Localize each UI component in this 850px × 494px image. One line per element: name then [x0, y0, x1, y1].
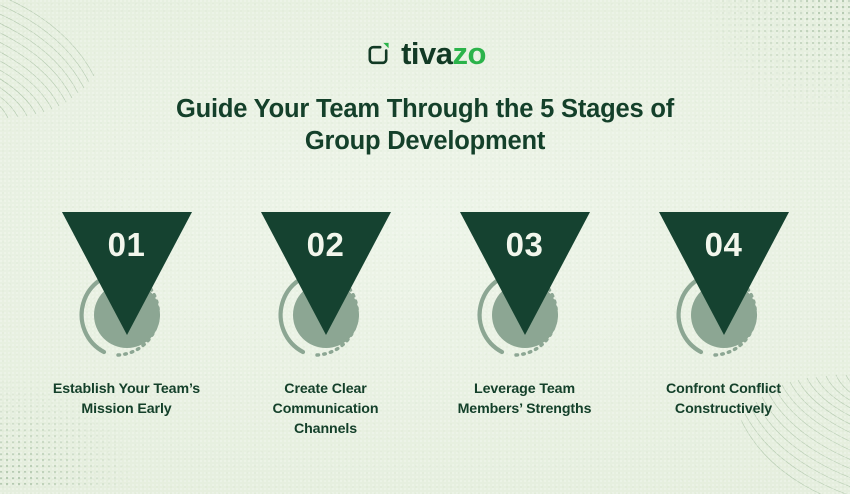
- stage-label: Establish Your Team’s Mission Early: [44, 379, 210, 419]
- stage-graphic: 03: [442, 205, 608, 365]
- tivazo-bracket-icon: [364, 39, 392, 67]
- stage-label: Confront Conflict Constructively: [641, 379, 807, 419]
- stage-card[interactable]: 03 Leverage Team Members’ Strengths: [442, 205, 608, 439]
- stage-graphic: 02: [243, 205, 409, 365]
- stage-label: Create Clear Communication Channels: [243, 379, 409, 439]
- brand-name-dark: tiva: [401, 36, 452, 71]
- brand-logo[interactable]: tivazo: [364, 34, 486, 72]
- stage-graphic: 01: [44, 205, 210, 365]
- stage-card[interactable]: 02 Create Clear Communication Channels: [243, 205, 409, 439]
- page-title: Guide Your Team Through the 5 Stages of …: [160, 93, 690, 157]
- stages-row: 01 Establish Your Team’s Mission Early 0…: [0, 205, 850, 439]
- stage-graphic: 04: [641, 205, 807, 365]
- stage-label: Leverage Team Members’ Strengths: [442, 379, 608, 419]
- brand-name-accent: zo: [452, 36, 485, 71]
- header: tivazo Guide Your Team Through the 5 Sta…: [0, 0, 850, 157]
- slide-canvas: tivazo Guide Your Team Through the 5 Sta…: [0, 0, 850, 494]
- brand-wordmark: tivazo: [401, 38, 486, 69]
- stage-card[interactable]: 04 Confront Conflict Constructively: [641, 205, 807, 439]
- stage-card[interactable]: 01 Establish Your Team’s Mission Early: [44, 205, 210, 439]
